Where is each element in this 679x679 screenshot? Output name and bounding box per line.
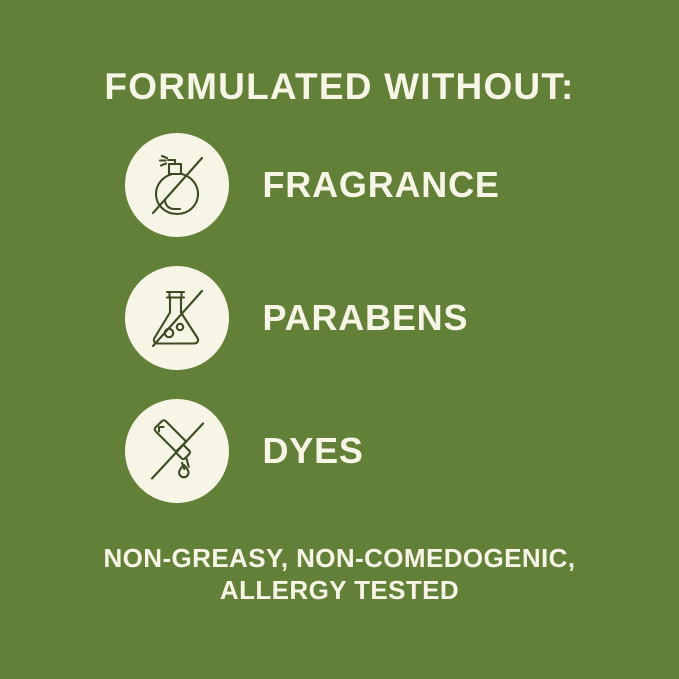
footer-claims: NON-GREASY, NON-COMEDOGENIC, ALLERGY TES… — [103, 543, 575, 606]
no-fragrance-bottle-icon — [125, 133, 229, 237]
claim-label-dyes: DYES — [263, 433, 364, 469]
claim-label-parabens: PARABENS — [263, 300, 469, 336]
no-chemical-flask-icon — [125, 266, 229, 370]
claims-list: FRAGRANCE PARABENS — [0, 133, 679, 503]
list-item: FRAGRANCE — [125, 133, 555, 237]
footer-line-2: ALLERGY TESTED — [103, 575, 575, 607]
footer-line-1: NON-GREASY, NON-COMEDOGENIC, — [103, 543, 575, 575]
no-dye-dropper-icon — [125, 399, 229, 503]
page-title: FORMULATED WITHOUT: — [104, 68, 574, 105]
list-item: PARABENS — [125, 266, 555, 370]
claim-label-fragrance: FRAGRANCE — [263, 167, 500, 203]
list-item: DYES — [125, 399, 555, 503]
formulated-without-panel: FORMULATED WITHOUT: — [0, 0, 679, 679]
